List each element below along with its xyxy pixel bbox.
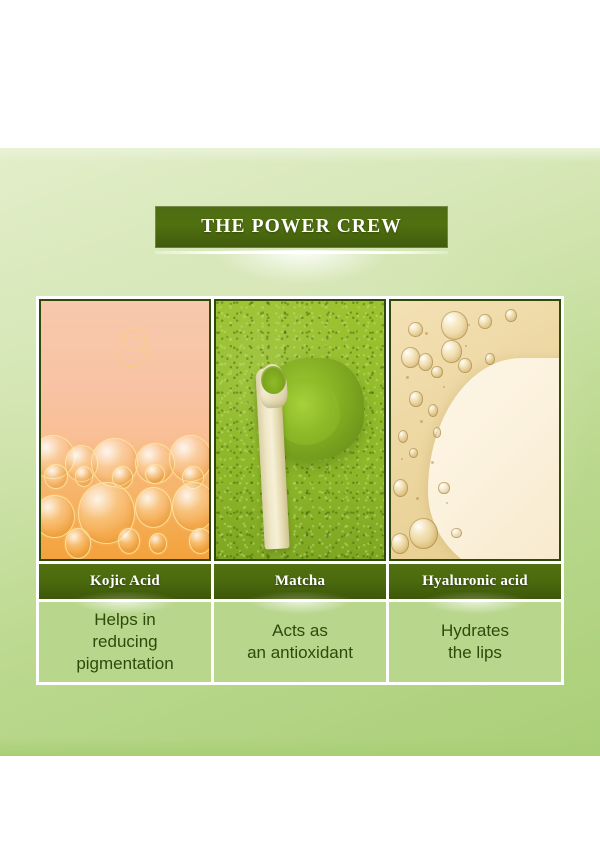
- ingredient-description: Helps in reducing pigmentation: [76, 609, 173, 674]
- ingredient-column-kojic-acid: Kojic Acid Helps in reducing pigmentatio…: [39, 299, 211, 682]
- ingredient-label-bar: Hyaluronic acid: [389, 564, 561, 599]
- ingredient-description: Acts as an antioxidant: [247, 620, 353, 664]
- description-glow: [248, 600, 351, 614]
- ingredient-label-bar: Matcha: [214, 564, 386, 599]
- product-ingredient-infographic: THE POWER CREW: [0, 0, 600, 866]
- matcha-image-frame: [214, 299, 386, 561]
- ingredients-card: Kojic Acid Helps in reducing pigmentatio…: [36, 296, 564, 685]
- matcha-powder-scoop-image: [216, 301, 384, 559]
- label-glow: [233, 592, 367, 599]
- ingredient-column-matcha: Matcha Acts as an antioxidant: [214, 299, 386, 682]
- ingredient-description-panel: Acts as an antioxidant: [214, 602, 386, 682]
- hyaluronic-acid-serum-bubbles-image: [391, 301, 559, 559]
- ingredient-name: Kojic Acid: [90, 573, 160, 590]
- label-glow: [58, 592, 192, 599]
- kojic-acid-golden-bubbles-image: [41, 301, 209, 559]
- title-banner-box: THE POWER CREW: [155, 206, 448, 248]
- ingredient-name: Hyaluronic acid: [422, 573, 528, 590]
- label-glow: [408, 592, 542, 599]
- title-banner: THE POWER CREW: [155, 206, 448, 254]
- page-title: THE POWER CREW: [201, 216, 402, 238]
- ingredient-label-bar: Kojic Acid: [39, 564, 211, 599]
- serum-crescent-shape: [428, 358, 561, 561]
- ingredient-description: Hydrates the lips: [441, 620, 509, 664]
- ingredient-column-hyaluronic-acid: Hyaluronic acid Hydrates the lips: [389, 299, 561, 682]
- title-underline: [155, 251, 448, 254]
- hyaluronic-acid-image-frame: [389, 299, 561, 561]
- description-glow: [423, 600, 526, 614]
- ingredient-description-panel: Hydrates the lips: [389, 602, 561, 682]
- kojic-acid-image-frame: [39, 299, 211, 561]
- ingredient-name: Matcha: [275, 573, 325, 590]
- ingredient-description-panel: Helps in reducing pigmentation: [39, 602, 211, 682]
